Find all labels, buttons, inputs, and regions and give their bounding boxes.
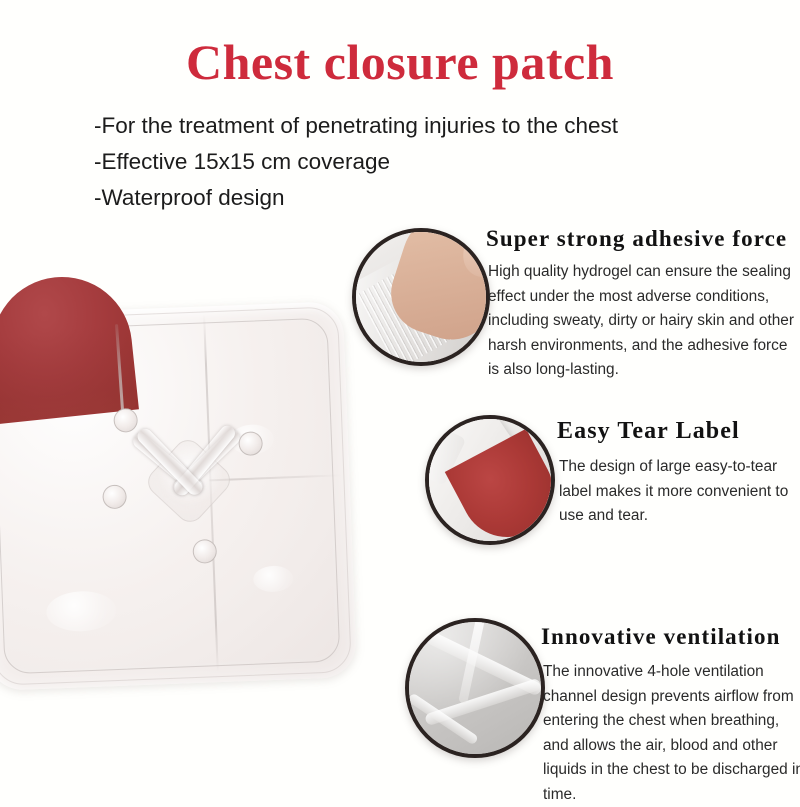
bullet-item-treatment: -For the treatment of penetrating injuri… <box>94 108 734 144</box>
vent-hole <box>113 408 138 433</box>
feature-heading-ventilation: Innovative ventilation <box>541 624 781 650</box>
feature-block-ventilation: Innovative ventilation The innovative 4-… <box>405 618 800 768</box>
page-title: Chest closure patch <box>0 33 800 91</box>
product-image <box>0 272 360 692</box>
ventilation-photo-circle <box>405 618 545 758</box>
thumbnail-shape <box>453 228 490 287</box>
ventilation-channel-assembly <box>105 397 271 563</box>
vent-hole <box>102 484 127 509</box>
feature-body-tear: The design of large easy-to-tear label m… <box>559 455 800 529</box>
ventilation-channel-closeup-icon <box>409 622 541 754</box>
thumb-pressing-hydrogel-icon <box>356 232 486 362</box>
feature-body-ventilation: The innovative 4-hole ventilation channe… <box>543 660 800 807</box>
bullet-item-coverage: -Effective 15x15 cm coverage <box>94 144 734 180</box>
closeup-sheen <box>405 618 539 724</box>
feature-block-adhesive: Super strong adhesive force High quality… <box>352 228 800 388</box>
feature-block-tear: Easy Tear Label The design of large easy… <box>425 415 800 550</box>
feature-heading-adhesive: Super strong adhesive force <box>486 226 787 252</box>
red-tear-tab-icon <box>429 419 551 541</box>
bullet-item-waterproof: -Waterproof design <box>94 180 734 216</box>
feature-bullet-list: -For the treatment of penetrating injuri… <box>94 108 734 216</box>
feature-body-adhesive: High quality hydrogel can ensure the sea… <box>488 260 798 383</box>
tear-photo-circle <box>425 415 555 545</box>
vent-hole <box>238 431 263 456</box>
feature-heading-tear: Easy Tear Label <box>557 418 740 445</box>
adhesive-photo-circle <box>352 228 490 366</box>
